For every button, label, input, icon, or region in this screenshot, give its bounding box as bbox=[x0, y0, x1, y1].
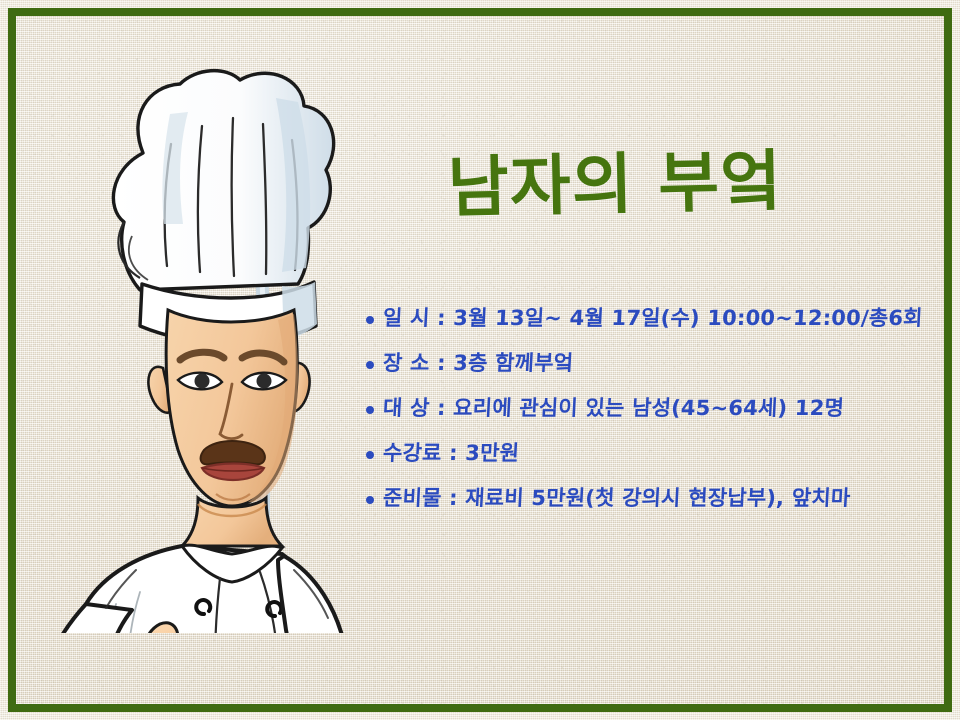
list-item: 대 상 : 요리에 관심이 있는 남성(45~64세) 12명 bbox=[366, 393, 952, 438]
list-item: 준비물 : 재료비 5만원(첫 강의시 현장납부), 앞치마 bbox=[366, 483, 952, 528]
bullet-dot-icon bbox=[366, 361, 374, 369]
list-item-text: 일 시 : 3월 13일~ 4월 17일(수) 10:00~12:00/총6회 bbox=[382, 303, 923, 334]
bullet-dot-icon bbox=[366, 496, 374, 504]
list-item-text: 장 소 : 3층 함께부엌 bbox=[382, 348, 574, 379]
bullet-dot-icon bbox=[366, 451, 374, 459]
bullet-dot-icon bbox=[366, 316, 374, 324]
course-info-list: 일 시 : 3월 13일~ 4월 17일(수) 10:00~12:00/총6회 … bbox=[366, 303, 952, 528]
list-item-text: 수강료 : 3만원 bbox=[382, 438, 520, 469]
list-item-text: 준비물 : 재료비 5만원(첫 강의시 현장납부), 앞치마 bbox=[382, 483, 851, 514]
list-item: 수강료 : 3만원 bbox=[366, 438, 952, 483]
poster-slide: 남자의 부엌 일 시 : 3월 13일~ 4월 17일(수) 10:00~12:… bbox=[0, 0, 960, 720]
bullet-dot-icon bbox=[366, 406, 374, 414]
page-title: 남자의 부엌 bbox=[379, 121, 851, 237]
list-item: 장 소 : 3층 함께부엌 bbox=[366, 348, 952, 393]
list-item: 일 시 : 3월 13일~ 4월 17일(수) 10:00~12:00/총6회 bbox=[366, 303, 952, 348]
list-item-text: 대 상 : 요리에 관심이 있는 남성(45~64세) 12명 bbox=[382, 393, 845, 424]
